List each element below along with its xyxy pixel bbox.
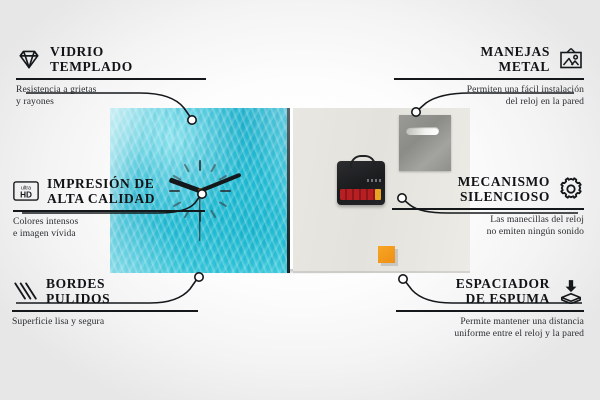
- arrow-onto-pad-icon: [558, 278, 584, 304]
- quartz-mechanism: [337, 161, 385, 205]
- gear-icon: [558, 176, 584, 202]
- callout-rule: [392, 208, 584, 210]
- callout-desc: Colores intensos e imagen vívida: [13, 216, 205, 241]
- callout-mecanismo-silencioso: MECANISMO SILENCIOSO Las manecillas del …: [392, 174, 584, 239]
- callout-rule: [16, 78, 206, 80]
- mechanism-label: [367, 179, 381, 182]
- diagonal-lines-icon: [12, 278, 38, 304]
- callout-impresion-alta-calidad: ultra HD IMPRESIÓN DE ALTA CALIDAD Color…: [13, 176, 205, 241]
- callout-title: MECANISMO SILENCIOSO: [458, 174, 550, 204]
- svg-text:HD: HD: [20, 191, 32, 200]
- callout-desc: Permite mantener una distancia uniforme …: [396, 316, 584, 341]
- callout-rule: [394, 78, 584, 80]
- foam-spacer: [378, 246, 395, 263]
- callout-title: MANEJAS METAL: [481, 44, 550, 74]
- minute-hand: [199, 172, 241, 192]
- callout-espaciador-espuma: ESPACIADOR DE ESPUMA Permite mantener un…: [396, 276, 584, 341]
- battery: [340, 189, 380, 200]
- callout-rule: [13, 210, 205, 212]
- callout-manejas-metal: MANEJAS METAL Permiten una fácil instala…: [394, 44, 584, 109]
- picture-frame-hook-icon: [558, 46, 584, 72]
- callout-rule: [396, 310, 584, 312]
- callout-bordes-pulidos: BORDES PULIDOS Superficie lisa y segura: [12, 276, 198, 328]
- diamond-icon: [16, 46, 42, 72]
- callout-title: IMPRESIÓN DE ALTA CALIDAD: [47, 176, 155, 206]
- callout-title: ESPACIADOR DE ESPUMA: [456, 276, 550, 306]
- callout-desc: Las manecillas del reloj no emiten ningú…: [392, 214, 584, 239]
- mechanism-bail: [350, 155, 376, 168]
- callout-desc: Permiten una fácil instalación del reloj…: [394, 84, 584, 109]
- ultra-hd-icon: ultra HD: [13, 178, 39, 204]
- callout-desc: Superficie lisa y segura: [12, 316, 198, 329]
- callout-title: VIDRIO TEMPLADO: [50, 44, 133, 74]
- battery-terminal: [375, 189, 381, 200]
- callout-rule: [12, 310, 198, 312]
- callout-title: BORDES PULIDOS: [46, 276, 110, 306]
- hanger-keyhole-slot: [406, 127, 438, 135]
- metal-hanger-plate: [399, 115, 451, 171]
- callout-desc: Resistencia a grietas y rayones: [16, 84, 206, 109]
- infographic-canvas: VIDRIO TEMPLADO Resistencia a grietas y …: [0, 0, 600, 400]
- callout-vidrio-templado: VIDRIO TEMPLADO Resistencia a grietas y …: [16, 44, 206, 109]
